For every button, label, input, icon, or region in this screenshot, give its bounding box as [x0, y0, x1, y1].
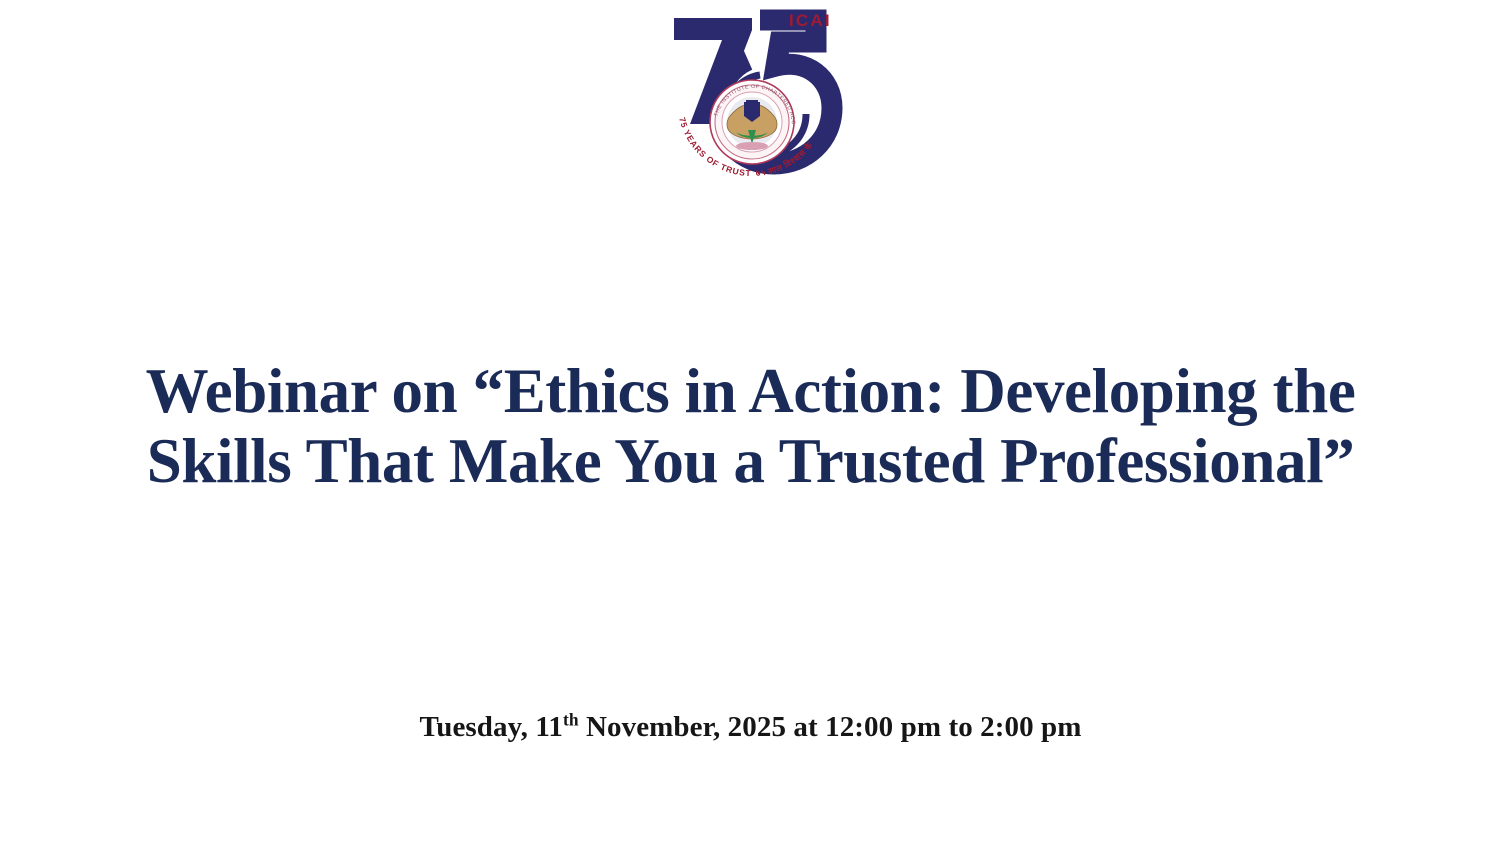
slide-canvas: ICAI [0, 0, 1501, 852]
logo-container: ICAI [0, 4, 1501, 182]
schedule-block: Tuesday, 11th November, 2025 at 12:00 pm… [0, 708, 1501, 746]
schedule-date-ordinal: th [563, 709, 579, 729]
schedule-month-time: November, 2025 at 12:00 pm to 2:00 pm [579, 711, 1082, 743]
page-title-line-1: Webinar on “Ethics in Action: Developing… [60, 356, 1441, 426]
icai-75-years-logo: ICAI [656, 4, 846, 182]
page-title: Webinar on “Ethics in Action: Developing… [0, 356, 1501, 496]
page-title-line-2: Skills That Make You a Trusted Professio… [60, 426, 1441, 496]
schedule-day-and-date: Tuesday, 11 [419, 711, 563, 743]
schedule-text: Tuesday, 11th November, 2025 at 12:00 pm… [0, 708, 1501, 746]
logo-acronym: ICAI [789, 11, 832, 30]
